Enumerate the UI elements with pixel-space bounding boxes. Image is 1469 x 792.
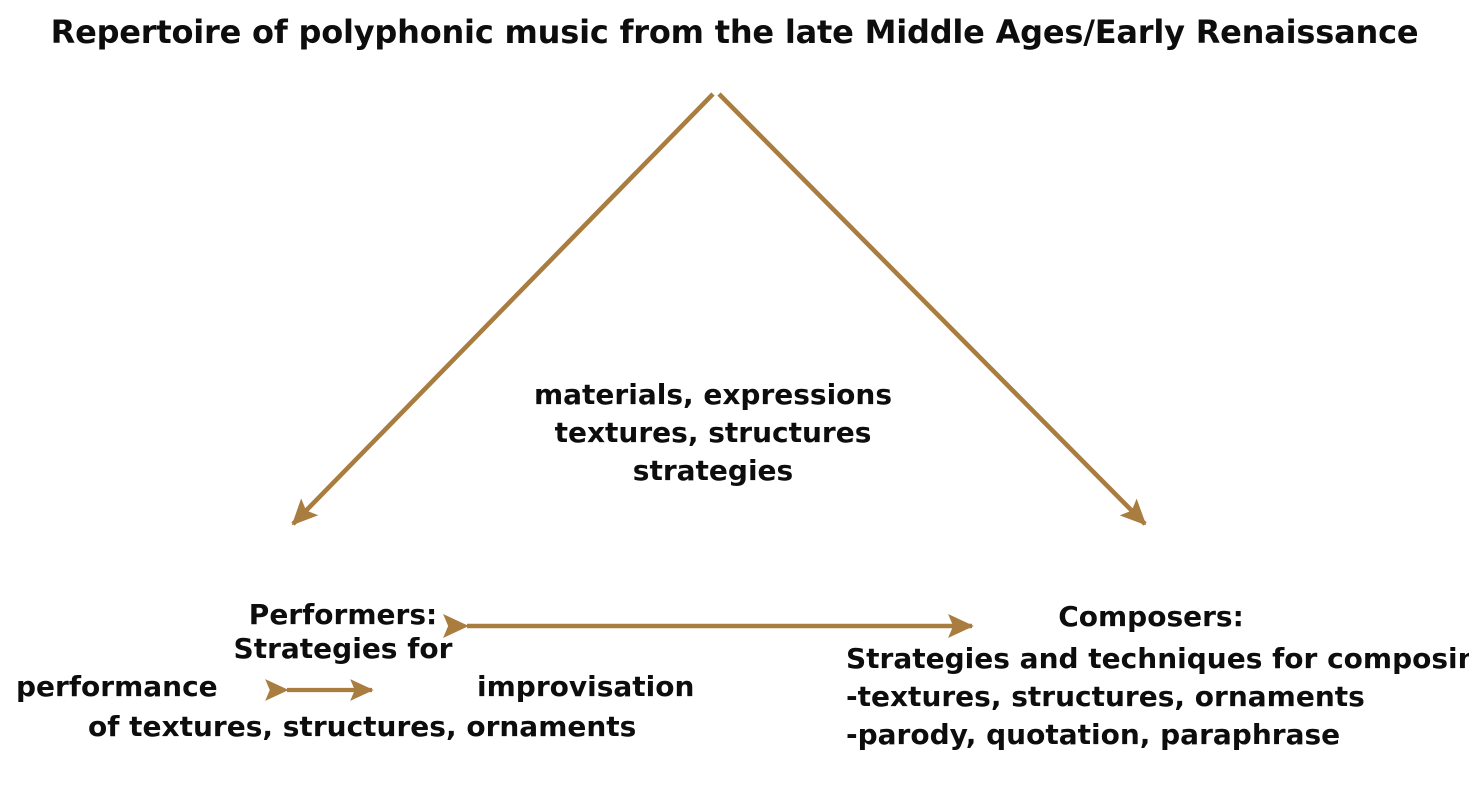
composers-heading: Composers:: [1036, 600, 1266, 633]
performers-heading-line-2: Strategies for: [193, 632, 493, 666]
performers-heading: Performers: Strategies for: [193, 598, 493, 665]
performance-label: performance: [16, 670, 218, 703]
performers-heading-line-1: Performers:: [193, 598, 493, 632]
composers-detail-line-3: -parody, quotation, paraphrase: [846, 716, 1469, 754]
center-note-line-2: textures, structures: [463, 414, 963, 452]
performance-detail-line: of textures, structures, ornaments: [88, 710, 636, 743]
center-note-line-3: strategies: [463, 452, 963, 490]
diagram-canvas: Repertoire of polyphonic music from the …: [0, 0, 1469, 792]
diagram-title: Repertoire of polyphonic music from the …: [0, 14, 1469, 52]
composers-details: Strategies and techniques for composing …: [846, 640, 1469, 753]
center-note: materials, expressions textures, structu…: [463, 376, 963, 489]
composers-detail-line-2: -textures, structures, ornaments: [846, 678, 1469, 716]
composers-detail-line-1: Strategies and techniques for composing: [846, 640, 1469, 678]
improvisation-label: improvisation: [477, 670, 694, 703]
center-note-line-1: materials, expressions: [463, 376, 963, 414]
